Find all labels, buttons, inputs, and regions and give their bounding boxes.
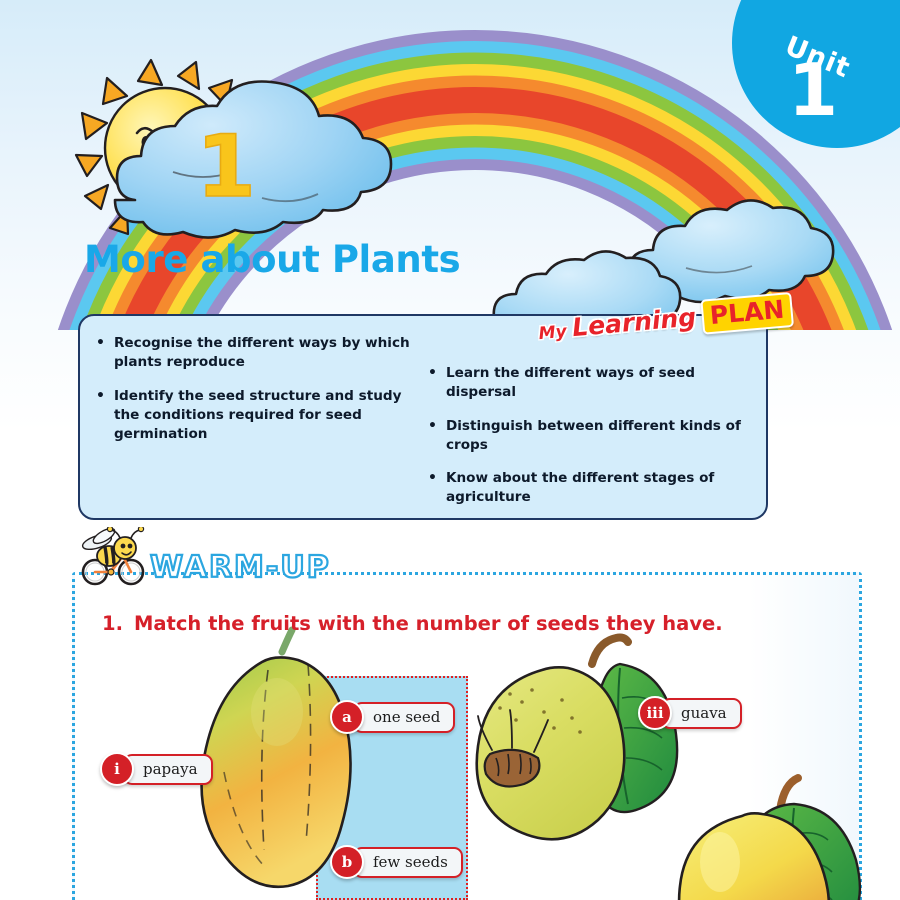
question-number: 1. — [102, 612, 123, 635]
match-option-text[interactable]: one seed — [353, 702, 455, 733]
warmup-label: WARM-UP — [150, 550, 331, 587]
bullet-icon: • — [96, 334, 105, 373]
learning-plan-item: • Know about the different stages of agr… — [428, 469, 758, 508]
question-1: 1. Match the fruits with the number of s… — [102, 612, 723, 635]
learning-plan-right-column: • Learn the different ways of seed dispe… — [428, 364, 758, 522]
match-option-one-seed[interactable]: a one seed — [330, 700, 455, 734]
cloud-with-number: 1 — [115, 82, 391, 238]
match-label-papaya[interactable]: i papaya — [100, 752, 213, 786]
bullet-icon: • — [96, 387, 105, 445]
warmup-heading: WARM-UP — [78, 527, 331, 587]
bullet-icon: • — [428, 469, 437, 508]
learning-plan-item-text: Learn the different ways of seed dispers… — [446, 364, 758, 403]
textbook-page: 1 Unit 1 More about Plants • Recognise t… — [0, 0, 900, 900]
question-text: Match the fruits with the number of seed… — [134, 612, 723, 635]
learning-plan-item-text: Distinguish between different kinds of c… — [446, 417, 758, 456]
learning-plan-item-text: Know about the different stages of agric… — [446, 469, 758, 508]
match-label-guava[interactable]: iii guava — [638, 696, 742, 730]
match-label-text[interactable]: guava — [661, 698, 742, 729]
match-marker-badge[interactable]: iii — [638, 696, 672, 730]
learning-plan-item: • Identify the seed structure and study … — [96, 387, 416, 445]
match-label-text[interactable]: papaya — [123, 754, 213, 785]
learning-plan-item: • Recognise the different ways by which … — [96, 334, 416, 373]
page-title: More about Plants — [84, 238, 460, 281]
match-marker-badge[interactable]: i — [100, 752, 134, 786]
learning-plan-badge-text: My Learning PLAN — [537, 292, 794, 349]
match-option-text[interactable]: few seeds — [353, 847, 463, 878]
sun-icon — [76, 60, 253, 234]
bullet-icon: • — [428, 364, 437, 403]
badge-learning-text: Learning — [571, 302, 697, 342]
learning-plan-left-column: • Recognise the different ways by which … — [96, 334, 416, 458]
match-marker-badge[interactable]: b — [330, 845, 364, 879]
learning-plan-item: • Learn the different ways of seed dispe… — [428, 364, 758, 403]
unit-badge-number: 1 — [788, 54, 838, 126]
learning-plan-badge: My Learning PLAN — [500, 276, 775, 358]
learning-plan-item: • Distinguish between different kinds of… — [428, 417, 758, 456]
match-marker-badge[interactable]: a — [330, 700, 364, 734]
bullet-icon: • — [428, 417, 437, 456]
svg-text:1: 1 — [196, 117, 256, 217]
badge-my-text: My — [538, 322, 568, 344]
badge-plan-text: PLAN — [700, 292, 793, 335]
unit-badge: Unit 1 — [732, 0, 900, 148]
learning-plan-item-text: Identify the seed structure and study th… — [114, 387, 416, 445]
bee-on-bicycle-icon — [78, 527, 146, 587]
match-option-few-seeds[interactable]: b few seeds — [330, 845, 463, 879]
learning-plan-item-text: Recognise the different ways by which pl… — [114, 334, 416, 373]
